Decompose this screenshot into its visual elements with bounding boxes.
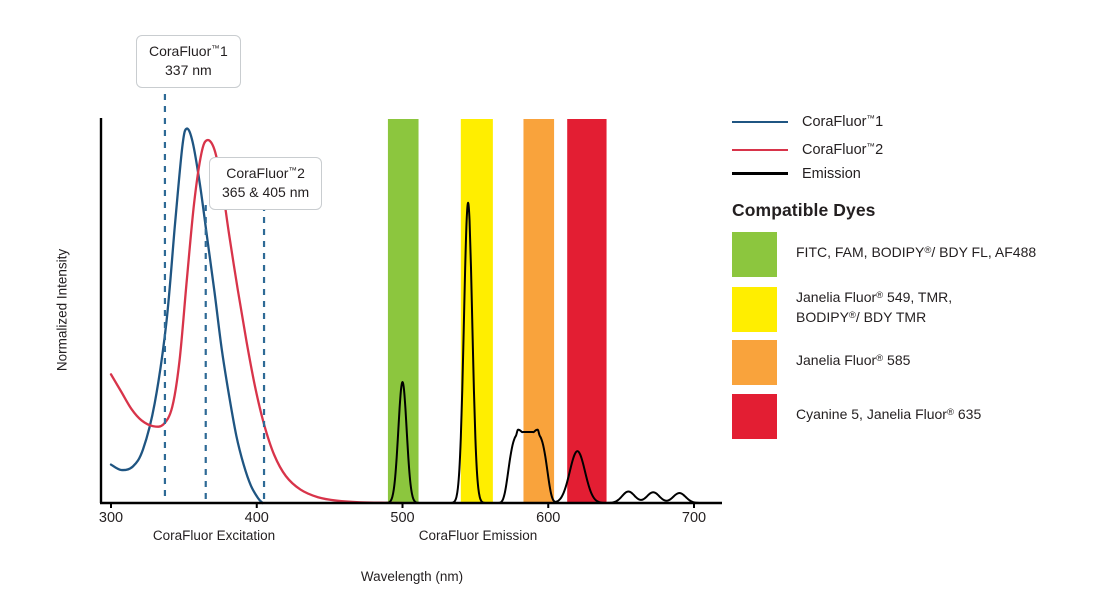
dye-text-suffix: 549, TMR,	[883, 289, 952, 305]
legend-label-suffix: 2	[875, 142, 883, 158]
legend-dye-label-line1: Cyanine 5, Janelia Fluor® 635	[796, 405, 981, 425]
dye-text: Janelia Fluor	[796, 352, 876, 368]
legend-dye-row-1[interactable]: FITC, FAM, BODIPY®/ BDY FL, AF488	[732, 232, 1036, 277]
callout-cora-fluor-2: CoraFluor™2 365 & 405 nm	[209, 157, 322, 210]
legend-line-swatch	[732, 149, 788, 151]
legend-series-label: CoraFluor™1	[802, 113, 883, 130]
excitation-region-label: CoraFluor Excitation	[153, 528, 275, 543]
registered-trademark-icon: ®	[849, 310, 856, 321]
legend-dye-label: Janelia Fluor® 549, TMR,BODIPY®/ BDY TMR	[796, 287, 952, 328]
legend-label-text: CoraFluor	[802, 114, 866, 130]
legend-dye-label-line1: FITC, FAM, BODIPY®/ BDY FL, AF488	[796, 243, 1036, 263]
legend-series-1[interactable]: CoraFluor™1	[732, 113, 883, 130]
dye-text: BODIPY	[796, 309, 849, 325]
legend-dye-row-4[interactable]: Cyanine 5, Janelia Fluor® 635	[732, 394, 981, 439]
legend-dye-label-line1: Janelia Fluor® 549, TMR,	[796, 288, 952, 308]
legend-series-label: Emission	[802, 165, 861, 182]
dye-text: Cyanine 5, Janelia Fluor	[796, 406, 947, 422]
emission-band-3	[567, 119, 606, 503]
callout-cf2-title: CoraFluor™2	[222, 164, 309, 183]
x-axis-title: Wavelength (nm)	[361, 569, 463, 584]
callout-cora-fluor-1: CoraFluor™1 337 nm	[136, 35, 241, 88]
legend-panel: CoraFluor™1CoraFluor™2Emission Compatibl…	[730, 0, 1110, 612]
legend-dye-label: FITC, FAM, BODIPY®/ BDY FL, AF488	[796, 232, 1036, 263]
callout-cf1-title: CoraFluor™1	[149, 42, 228, 61]
legend-dye-swatch	[732, 232, 777, 277]
registered-trademark-icon: ®	[947, 407, 954, 418]
plot-area: Normalized Intensity Wavelength (nm) Cor…	[0, 0, 730, 612]
emission-region-label: CoraFluor Emission	[419, 528, 538, 543]
dye-text: FITC, FAM, BODIPY	[796, 244, 924, 260]
legend-label-text: Emission	[802, 166, 861, 182]
legend-series-2[interactable]: CoraFluor™2	[732, 141, 883, 158]
legend-line-swatch	[732, 121, 788, 123]
x-tick-label-300: 300	[99, 510, 123, 526]
trademark-icon: ™	[288, 165, 297, 175]
x-tick-label-600: 600	[536, 510, 560, 526]
legend-dye-label: Janelia Fluor® 585	[796, 340, 910, 371]
legend-label-suffix: 1	[875, 114, 883, 130]
x-tick-label-400: 400	[245, 510, 269, 526]
trademark-icon: ™	[866, 141, 875, 151]
legend-dye-label-line2: BODIPY®/ BDY TMR	[796, 308, 952, 328]
legend-dye-swatch	[732, 394, 777, 439]
legend-label-text: CoraFluor	[802, 142, 866, 158]
emission-band-2	[523, 119, 554, 503]
fluorescence-spectra-figure: Normalized Intensity Wavelength (nm) Cor…	[0, 0, 1110, 612]
legend-dye-label: Cyanine 5, Janelia Fluor® 635	[796, 394, 981, 425]
trademark-icon: ™	[866, 113, 875, 123]
legend-dye-label-line1: Janelia Fluor® 585	[796, 351, 910, 371]
x-tick-label-700: 700	[682, 510, 706, 526]
legend-dye-swatch	[732, 287, 777, 332]
y-axis-title: Normalized Intensity	[55, 249, 70, 371]
callout-cf1-value: 337 nm	[149, 61, 228, 80]
dye-text-suffix: 585	[883, 352, 910, 368]
dye-text-suffix: 635	[954, 406, 981, 422]
legend-line-swatch	[732, 172, 788, 175]
dye-text-suffix: / BDY TMR	[856, 309, 926, 325]
callout-cf2-value: 365 & 405 nm	[222, 183, 309, 202]
dye-text: Janelia Fluor	[796, 289, 876, 305]
trademark-icon: ™	[211, 43, 220, 53]
legend-series-label: CoraFluor™2	[802, 141, 883, 158]
legend-dye-row-3[interactable]: Janelia Fluor® 585	[732, 340, 910, 385]
emission-band-0	[388, 119, 419, 503]
x-tick-label-500: 500	[390, 510, 414, 526]
legend-dye-row-2[interactable]: Janelia Fluor® 549, TMR,BODIPY®/ BDY TMR	[732, 287, 952, 332]
legend-series-3[interactable]: Emission	[732, 165, 861, 182]
emission-band-1	[461, 119, 493, 503]
dye-text-suffix: / BDY FL, AF488	[931, 244, 1036, 260]
compatible-dyes-heading: Compatible Dyes	[732, 200, 875, 221]
legend-dye-swatch	[732, 340, 777, 385]
